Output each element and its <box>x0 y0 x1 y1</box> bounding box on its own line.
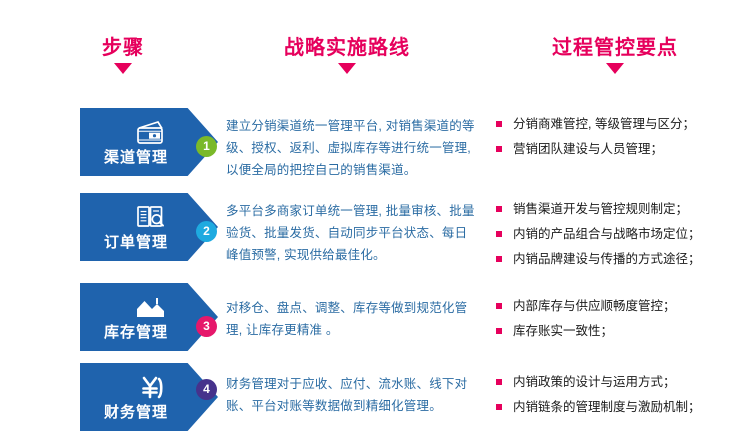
step-number-badge: 1 <box>196 136 217 157</box>
list-item-label: 内销政策的设计与运用方式； <box>513 373 746 391</box>
caret-down-icon <box>114 63 132 74</box>
step-number-badge: 4 <box>196 379 217 400</box>
list-item-label: 营销团队建设与人员管理； <box>513 140 746 158</box>
list-item: 内销的产品组合与战略市场定位； <box>496 225 746 243</box>
bullet-square-icon <box>496 146 502 152</box>
strategy-description: 对移仓、盘点、调整、库存等做到规范化管理, 让库存更精准 。 <box>226 297 476 341</box>
column-header-control-points: 过程管控要点 <box>490 36 740 74</box>
list-item-label: 内销链条的管理制度与激励机制； <box>513 398 746 416</box>
step-number-badge: 3 <box>196 316 217 337</box>
column-header-strategy: 战略实施路线 <box>222 36 472 74</box>
stage-tag-label: 财务管理 <box>80 403 218 422</box>
process-row: 渠道管理 1 建立分销渠道统一管理平台, 对销售渠道的等级、授权、返利、虚拟库存… <box>0 105 750 185</box>
column-header-strategy-label: 战略实施路线 <box>222 36 472 60</box>
control-points-list: 内销政策的设计与运用方式； 内销链条的管理制度与激励机制； <box>496 373 746 423</box>
warehouse-icon <box>80 293 218 323</box>
list-item: 内销政策的设计与运用方式； <box>496 373 746 391</box>
column-header-steps-label: 步骤 <box>63 36 183 60</box>
bullet-square-icon <box>496 303 502 309</box>
strategy-description: 建立分销渠道统一管理平台, 对销售渠道的等级、授权、返利、虚拟库存等进行统一管理… <box>226 115 476 181</box>
list-item: 内部库存与供应顺畅度管控； <box>496 297 746 315</box>
bullet-square-icon <box>496 256 502 262</box>
column-header-steps: 步骤 <box>63 36 183 74</box>
list-item-label: 库存账实一致性； <box>513 322 746 340</box>
stage-tag-inventory[interactable]: 库存管理 <box>80 283 218 351</box>
bullet-square-icon <box>496 121 502 127</box>
bullet-square-icon <box>496 206 502 212</box>
caret-down-icon <box>606 63 624 74</box>
bullet-square-icon <box>496 231 502 237</box>
step-number-badge: 2 <box>196 221 217 242</box>
process-row: 库存管理 3 对移仓、盘点、调整、库存等做到规范化管理, 让库存更精准 。 内部… <box>0 280 750 360</box>
list-item: 内销链条的管理制度与激励机制； <box>496 398 746 416</box>
bullet-square-icon <box>496 379 502 385</box>
column-headers: 步骤 战略实施路线 过程管控要点 <box>0 36 750 92</box>
control-points-list: 销售渠道开发与管控规则制定； 内销的产品组合与战略市场定位； 内销品牌建设与传播… <box>496 200 746 275</box>
list-item: 营销团队建设与人员管理； <box>496 140 746 158</box>
process-row: 财务管理 4 财务管理对于应收、应付、流水账、线下对账、平台对账等数据做到精细化… <box>0 360 750 440</box>
bullet-square-icon <box>496 328 502 334</box>
list-item: 分销商难管控, 等级管理与区分； <box>496 115 746 133</box>
list-item: 库存账实一致性； <box>496 322 746 340</box>
list-item-label: 销售渠道开发与管控规则制定； <box>513 200 746 218</box>
strategy-description: 多平台多商家订单统一管理, 批量审核、批量验货、批量发货、自动同步平台状态、每日… <box>226 200 476 266</box>
control-points-list: 内部库存与供应顺畅度管控； 库存账实一致性； <box>496 297 746 347</box>
caret-down-icon <box>338 63 356 74</box>
list-item: 内销品牌建设与传播的方式途径； <box>496 250 746 268</box>
control-points-list: 分销商难管控, 等级管理与区分； 营销团队建设与人员管理； <box>496 115 746 165</box>
list-item-label: 内部库存与供应顺畅度管控； <box>513 297 746 315</box>
list-item-label: 分销商难管控, 等级管理与区分； <box>513 115 746 133</box>
strategy-description: 财务管理对于应收、应付、流水账、线下对账、平台对账等数据做到精细化管理。 <box>226 373 476 417</box>
stage-tag-finance[interactable]: 财务管理 <box>80 363 218 431</box>
list-item: 销售渠道开发与管控规则制定； <box>496 200 746 218</box>
process-row: 订单管理 2 多平台多商家订单统一管理, 批量审核、批量验货、批量发货、自动同步… <box>0 190 750 270</box>
list-item-label: 内销品牌建设与传播的方式途径； <box>513 250 746 268</box>
bullet-square-icon <box>496 404 502 410</box>
list-item-label: 内销的产品组合与战略市场定位； <box>513 225 746 243</box>
column-header-control-points-label: 过程管控要点 <box>490 36 740 60</box>
